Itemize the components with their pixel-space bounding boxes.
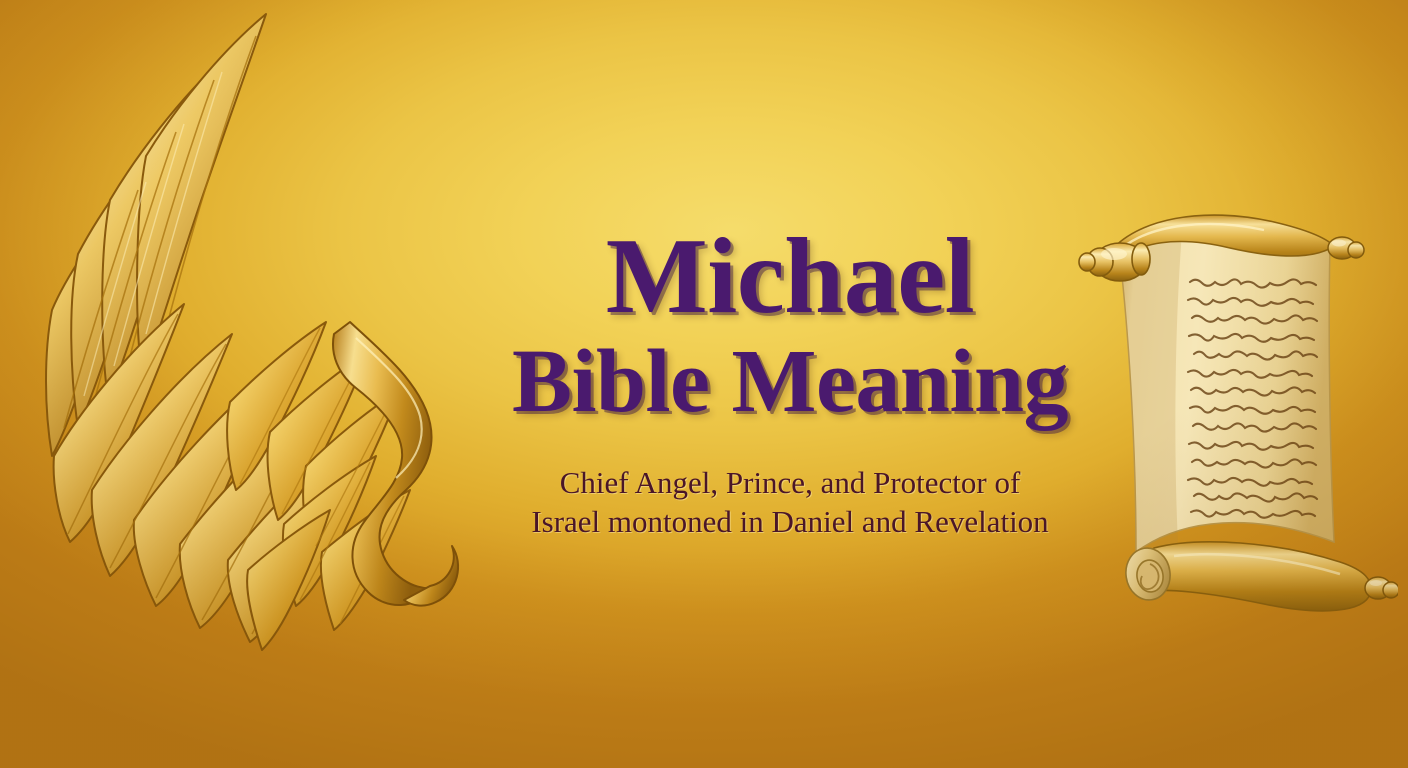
banner-image: Michael Bible Meaning Chief Angel, Princ… [0, 0, 1408, 768]
scroll-icon [1078, 196, 1398, 656]
angel-wing-icon [34, 4, 474, 664]
page-title-line1: Michael [430, 224, 1150, 331]
tagline-line1: Chief Angel, Prince, and Protector of [430, 463, 1150, 503]
tagline: Chief Angel, Prince, and Protector of Is… [430, 463, 1150, 542]
tagline-line2: Israel montoned in Daniel and Revelation [430, 502, 1150, 542]
headline-block: Michael Bible Meaning Chief Angel, Princ… [430, 224, 1150, 542]
page-title-line2: Bible Meaning [430, 335, 1150, 429]
